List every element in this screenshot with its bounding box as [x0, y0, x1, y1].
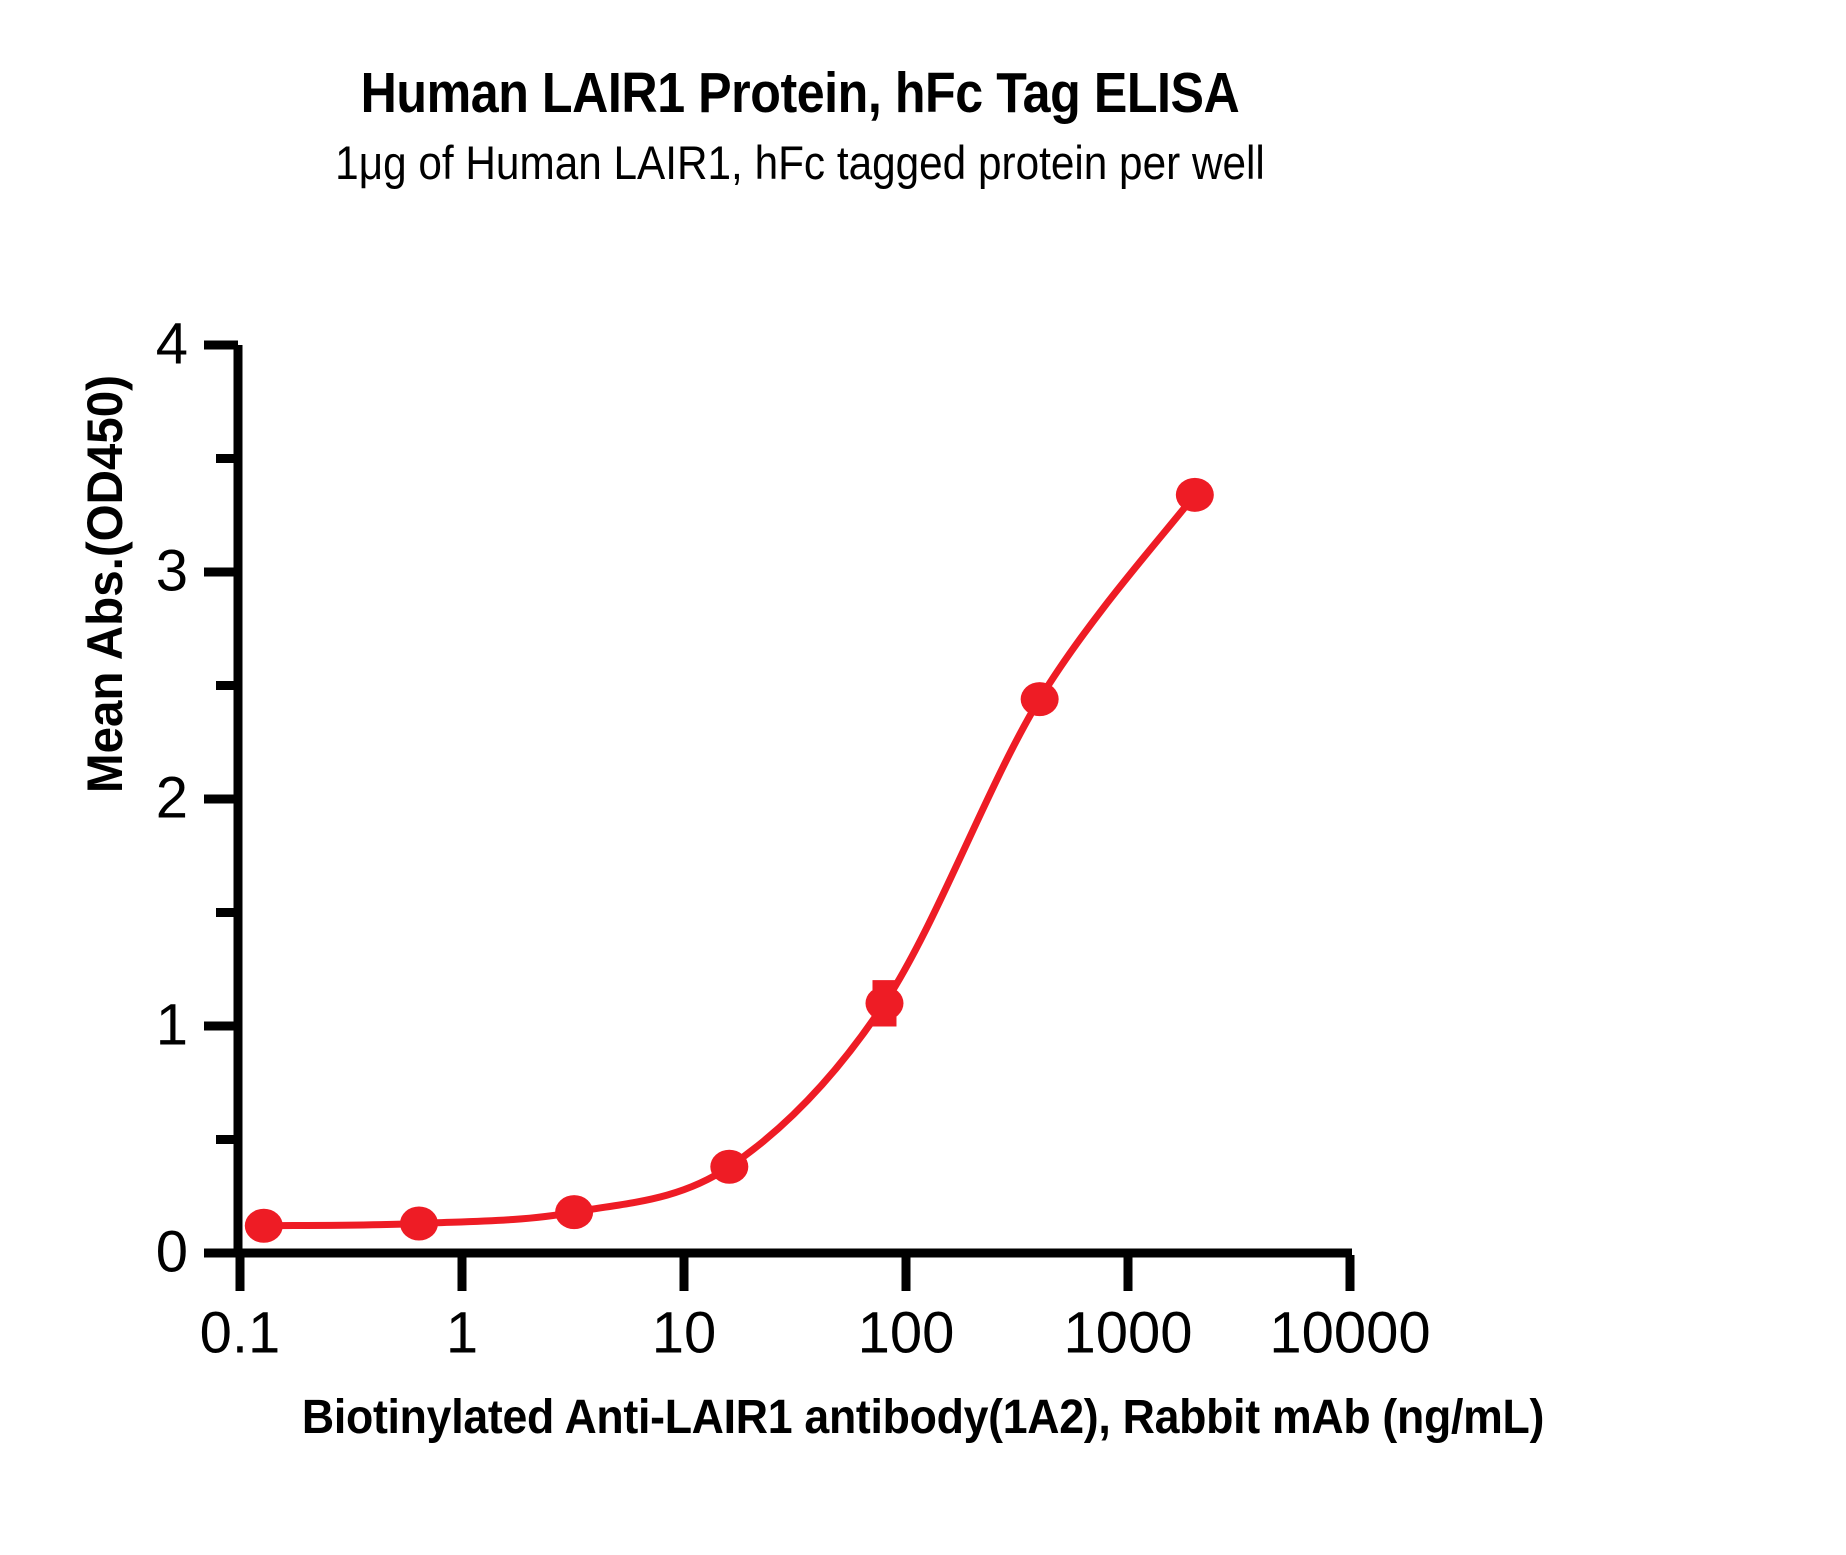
data-point-marker [710, 1150, 748, 1184]
x-tick-label: 0.1 [200, 1301, 281, 1366]
y-tick-label: 0 [156, 1219, 188, 1284]
y-tick-label: 1 [156, 992, 188, 1057]
x-tick-label: 10 [652, 1301, 717, 1366]
data-point-marker [400, 1206, 438, 1240]
data-point-marker [555, 1195, 593, 1229]
series-line [264, 495, 1195, 1226]
x-tick-label: 1 [446, 1301, 478, 1366]
y-tick-label: 2 [156, 765, 188, 830]
x-tick-label-group: 0.1110100100010000 [200, 1301, 1431, 1366]
y-tick-marks [204, 345, 238, 1253]
x-tick-marks [240, 1255, 1350, 1291]
y-tick-label: 3 [156, 538, 188, 603]
y-tick-label: 4 [156, 311, 188, 376]
data-point-marker [1021, 682, 1059, 716]
data-curve [264, 495, 1195, 1226]
data-markers [245, 478, 1214, 1243]
x-tick-label: 100 [858, 1301, 955, 1366]
x-tick-label: 10000 [1269, 1301, 1430, 1366]
data-point-marker [245, 1209, 283, 1243]
data-point-marker [1176, 478, 1214, 512]
plot-area: 01234 0.1110100100010000 [0, 0, 1846, 1555]
x-tick-label: 1000 [1063, 1301, 1192, 1366]
data-point-marker [865, 986, 903, 1020]
chart-figure: Human LAIR1 Protein, hFc Tag ELISA 1μg o… [0, 0, 1846, 1555]
y-tick-label-group: 01234 [156, 311, 188, 1284]
